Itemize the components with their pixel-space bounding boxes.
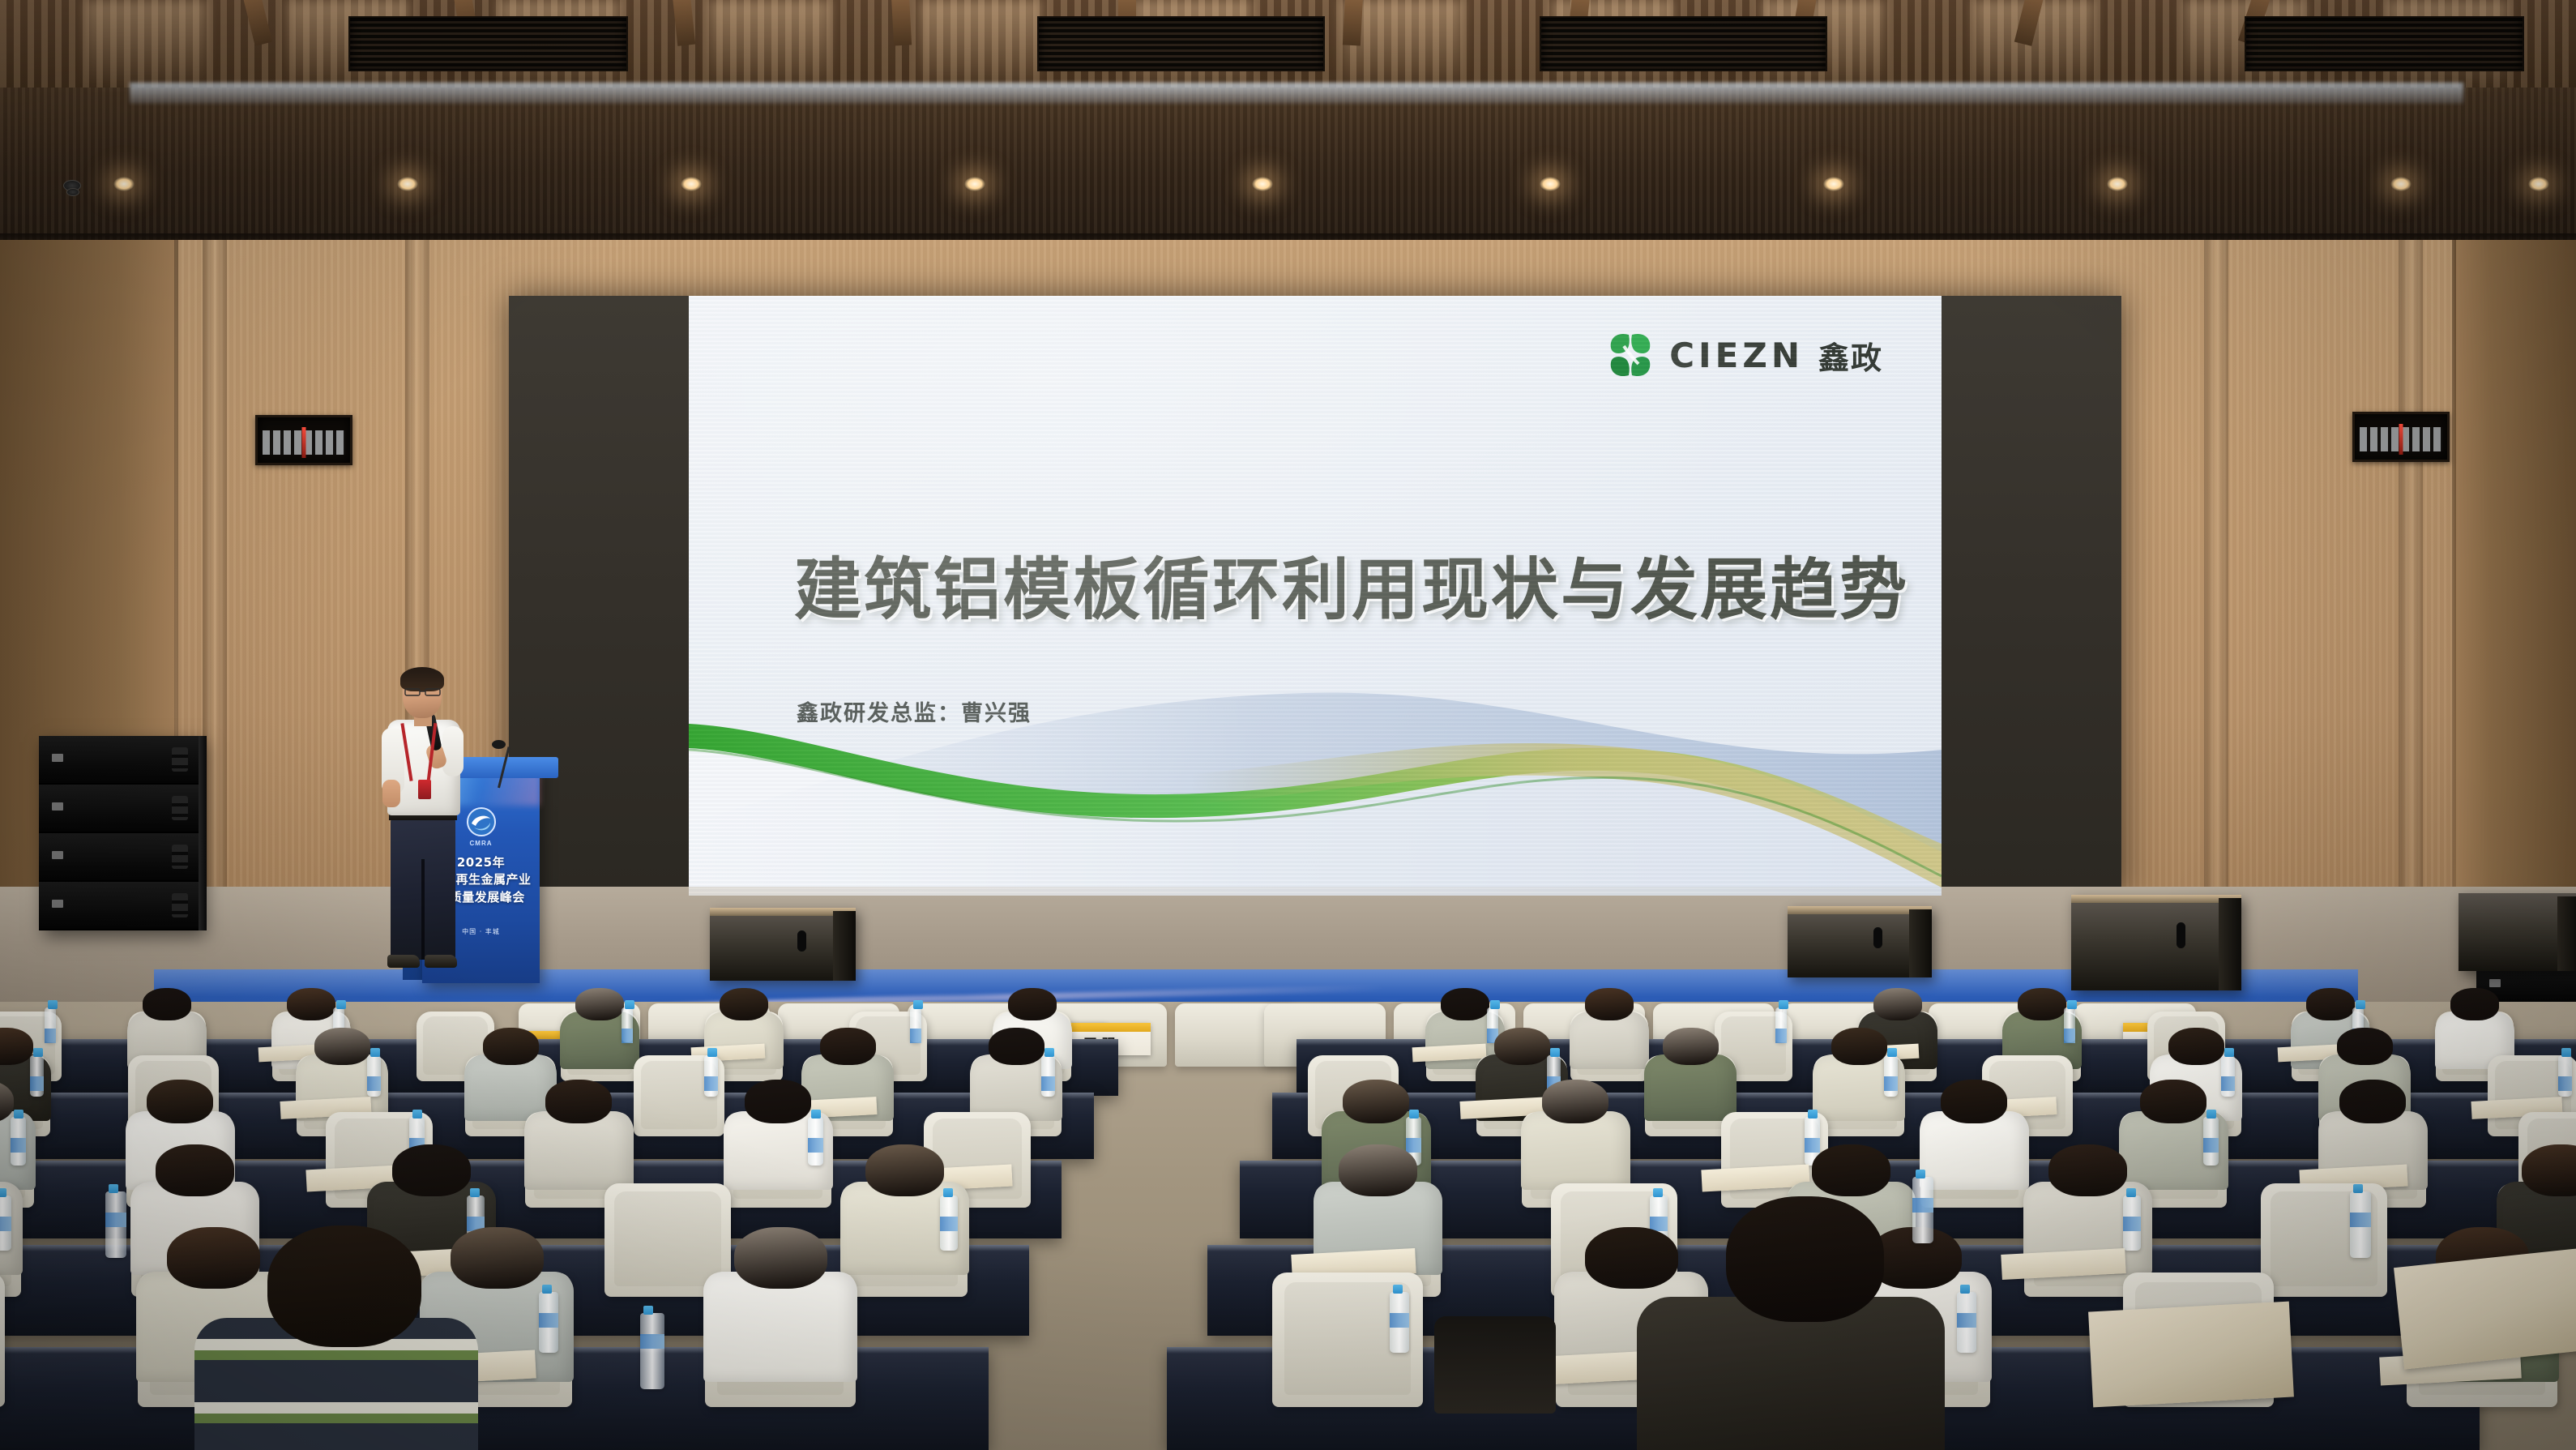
wall-pilaster (2399, 240, 2423, 953)
audience-person-head (2337, 1028, 2393, 1065)
downlight (397, 177, 418, 191)
monitor-handle-port (2177, 922, 2185, 948)
monitor-side-face (1909, 909, 1932, 977)
water-bottle (105, 1191, 126, 1258)
audience-person-head (2522, 1144, 2576, 1196)
downlight (1540, 177, 1561, 191)
downlight (964, 177, 985, 191)
audience-person-head (147, 1080, 213, 1123)
water-bottle (940, 1196, 958, 1251)
audience-person-head (575, 988, 624, 1020)
audience-person-head (167, 1227, 260, 1289)
foreground-person-head (267, 1225, 421, 1347)
presenter-shoe-left (387, 955, 420, 968)
audience-person-head (2306, 988, 2355, 1020)
ceiling-vent (1037, 16, 1325, 71)
module-badge (52, 754, 63, 762)
cmra-label: CMRA (470, 840, 493, 847)
downlight (2528, 177, 2549, 191)
module-badge (52, 802, 63, 811)
audience-person-head (745, 1080, 811, 1123)
audience-person-head (1873, 988, 1922, 1020)
presenter-arm-right (442, 726, 464, 776)
water-bottle (2123, 1196, 2141, 1251)
water-bottle (910, 1007, 921, 1042)
water-bottle (2558, 1055, 2572, 1097)
camera-dome-icon (66, 188, 79, 196)
conference-brochure (2394, 1248, 2576, 1369)
audience-person-head (143, 988, 191, 1020)
wall-seam (2452, 240, 2456, 953)
ceiling-light-wash (709, 0, 831, 88)
audience-person-head (2140, 1080, 2206, 1123)
downlight (1823, 177, 1844, 191)
wall-alcove-right (2352, 412, 2450, 462)
monitor-side-face (833, 911, 856, 981)
logo-wordmark: CIEZN (1669, 336, 1804, 375)
audience-person-head (287, 988, 335, 1020)
downlight (2390, 177, 2412, 191)
conference-hall-scene: CIEZN 鑫政 (0, 0, 2576, 1450)
slide-content: CIEZN 鑫政 (689, 296, 1942, 896)
microphone-head-icon (492, 740, 506, 749)
water-bottle (0, 1196, 11, 1251)
audience-person-head (1008, 988, 1057, 1020)
module-badge (2489, 979, 2501, 987)
monitor-handle-port (1873, 927, 1882, 948)
conference-brochure (2088, 1302, 2294, 1408)
audience-person-head (1494, 1028, 1550, 1065)
alcove-red-rod-icon (302, 427, 306, 458)
water-bottle (1957, 1292, 1976, 1354)
presenter-badge (418, 780, 431, 799)
audience-person-head (989, 1028, 1044, 1065)
audience-person-head (545, 1080, 612, 1123)
attendee-bag (1434, 1316, 1556, 1414)
slide-logo: CIEZN 鑫政 (1606, 330, 1883, 380)
slide-wave-graphic (689, 652, 1942, 896)
ceiling-vent (1540, 16, 1827, 71)
audience-chair (0, 1272, 5, 1407)
water-bottle (2350, 1191, 2371, 1258)
audience-person-head (720, 988, 768, 1020)
presenter-leg-split (421, 859, 425, 960)
ceiling-light-wash (920, 0, 1041, 88)
module-badge (52, 851, 63, 859)
audience-person-head (1441, 988, 1489, 1020)
water-bottle (539, 1292, 558, 1354)
water-bottle (2064, 1007, 2075, 1042)
presenter-forearm-left (382, 780, 400, 807)
downlight (681, 177, 702, 191)
audience-person-head (451, 1227, 544, 1289)
line-array-left (39, 736, 201, 930)
downlight (2107, 177, 2128, 191)
led-side-panel-right (1942, 296, 2121, 896)
audience-person-head (1339, 1144, 1417, 1196)
ceiling-light-wash (85, 0, 207, 88)
water-bottle (1775, 1007, 1787, 1042)
ciezn-pinwheel-leaf-icon (1606, 330, 1655, 380)
audience-person-head (1585, 988, 1634, 1020)
presenter-shoe-right (425, 955, 457, 968)
stage-monitor-right (1788, 906, 1932, 977)
slide-title: 建筑铝模板循环利用现状与发展趋势 (794, 535, 1909, 632)
line-array-module (39, 785, 201, 833)
water-bottle (45, 1007, 56, 1042)
wall-right-return (2454, 240, 2576, 953)
water-bottle (1884, 1055, 1898, 1097)
line-array-module (39, 833, 201, 882)
water-bottle (808, 1117, 823, 1166)
audience-person-head (314, 1028, 370, 1065)
led-video-wall: CIEZN 鑫政 (509, 296, 2121, 896)
downlight (1252, 177, 1273, 191)
audience-person-head (392, 1144, 471, 1196)
line-array-module (39, 882, 201, 930)
foreground-person-head (1726, 1196, 1884, 1322)
audience-person-head (1585, 1227, 1678, 1289)
audience-person-head (865, 1144, 944, 1196)
water-bottle (367, 1055, 381, 1097)
audience-person-head (1343, 1080, 1409, 1123)
monitor-side-face (2219, 898, 2241, 990)
audience-person-head (2450, 988, 2499, 1020)
audience-person-head (734, 1227, 827, 1289)
stage-monitor-left (710, 908, 856, 981)
audience-person-head (1812, 1144, 1890, 1196)
water-bottle (2203, 1117, 2219, 1166)
water-bottle (1041, 1055, 1055, 1097)
audience-person-head (1831, 1028, 1887, 1065)
ceiling-vent (348, 16, 628, 71)
ceiling-vent (2245, 16, 2524, 71)
audience-person-head (2018, 988, 2066, 1020)
water-bottle (1390, 1292, 1409, 1354)
eyeglasses-icon (404, 688, 441, 696)
stage-monitor-far-right (2071, 895, 2241, 990)
audience-person-head (1941, 1080, 2007, 1123)
water-bottle (704, 1055, 718, 1097)
line-array-rigging (199, 736, 207, 930)
monitor-handle-port (797, 930, 806, 952)
audience-person-head (2339, 1080, 2406, 1123)
water-bottle (1912, 1177, 1933, 1243)
water-bottle (622, 1007, 633, 1042)
audience-person-head (483, 1028, 539, 1065)
audience-person-head (820, 1028, 876, 1065)
water-bottle (640, 1313, 664, 1389)
logo-chinese-name: 鑫政 (1818, 333, 1883, 378)
audience-person-head (156, 1144, 234, 1196)
module-badge (52, 900, 63, 908)
ceiling-beam (1343, 0, 1363, 45)
slide-subtitle: 鑫政研发总监：曹兴强 (797, 695, 1032, 727)
line-array-module (39, 736, 201, 785)
downlight (113, 177, 135, 191)
wall-alcove-left (255, 415, 352, 465)
ceiling-lower-panel (0, 88, 2576, 243)
water-bottle (11, 1117, 26, 1166)
alcove-red-rod-icon (2399, 424, 2403, 455)
monitor-top-edge (2071, 895, 2241, 903)
wall-pilaster (2204, 240, 2228, 953)
audience-person-head (2168, 1028, 2224, 1065)
water-bottle (2221, 1055, 2235, 1097)
case-side-face (2557, 896, 2576, 971)
audience-person-head (2048, 1144, 2127, 1196)
audience-person-head (1663, 1028, 1719, 1065)
stage-equipment-case (2459, 893, 2576, 971)
cmra-logo-icon (465, 806, 498, 838)
ceiling-cove-light (130, 83, 2463, 104)
water-bottle (30, 1055, 44, 1097)
audience-person-head (1542, 1080, 1608, 1123)
ceiling-beam (891, 0, 912, 45)
